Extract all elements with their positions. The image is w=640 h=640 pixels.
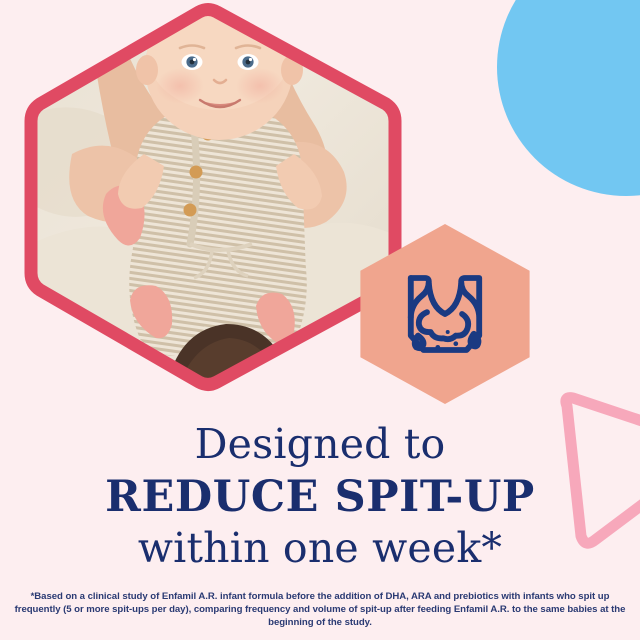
advertisement-canvas: Designed to REDUCE SPIT-UP within one we… <box>0 0 640 640</box>
headline-block: Designed to REDUCE SPIT-UP within one we… <box>0 424 640 569</box>
photo-content <box>14 0 420 400</box>
blue-circle-decor <box>497 0 640 196</box>
headline-line-1: Designed to <box>0 424 640 465</box>
baby-photo-hexagon <box>14 0 420 400</box>
headline-line-3: within one week* <box>0 528 640 569</box>
footnote-disclaimer: *Based on a clinical study of Enfamil A.… <box>8 590 632 630</box>
headline-line-2: REDUCE SPIT-UP <box>0 476 640 519</box>
baby-bib-with-spit-up-icon <box>391 260 499 368</box>
